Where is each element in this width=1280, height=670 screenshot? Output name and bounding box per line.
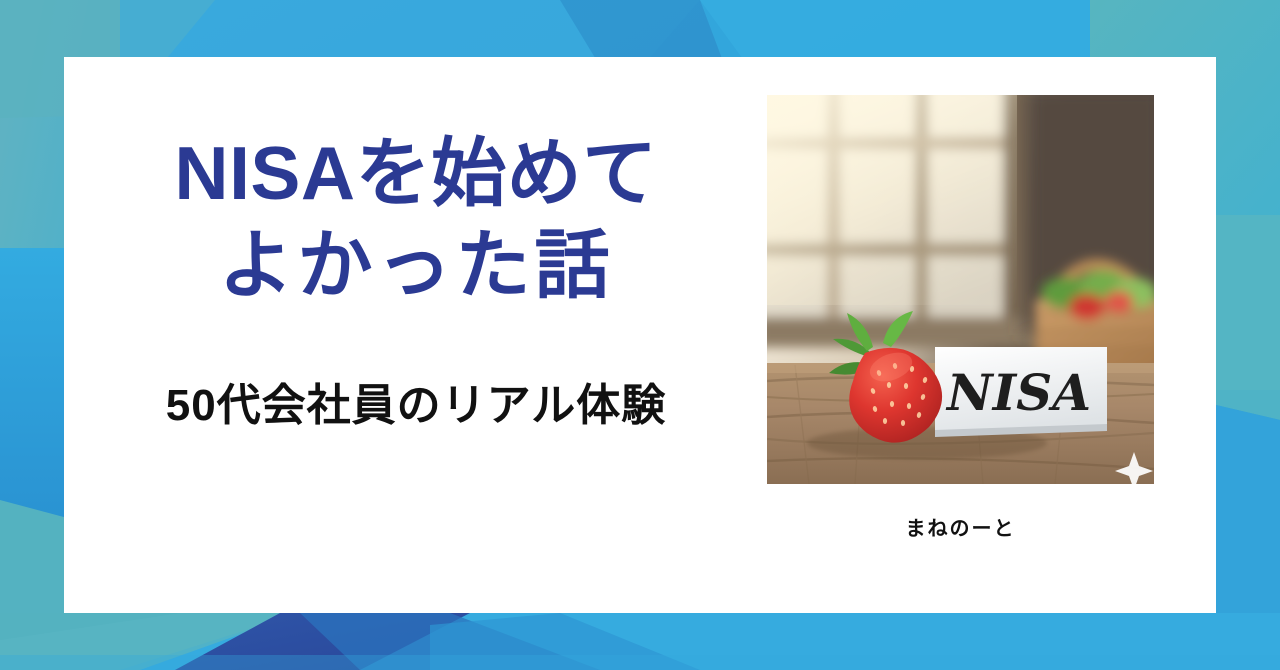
page-title: NISAを始めて よかった話	[96, 76, 736, 311]
hero-photo: NISA	[767, 95, 1154, 484]
eyecatch-canvas: NISAを始めて よかった話 50代会社員のリアル体験	[0, 0, 1280, 670]
name-card-text: NISA	[945, 363, 1091, 422]
photo-caption: まねのーと	[767, 512, 1154, 541]
headline-line-2: よかった話	[96, 220, 736, 312]
page-subtitle: 50代会社員のリアル体験	[96, 311, 736, 433]
headline-line-1: NISAを始めて	[96, 128, 736, 220]
hero-photo-illustration: NISA	[767, 95, 1154, 484]
text-column: NISAを始めて よかった話 50代会社員のリアル体験	[96, 76, 736, 496]
name-card-shape: NISA	[935, 347, 1107, 437]
